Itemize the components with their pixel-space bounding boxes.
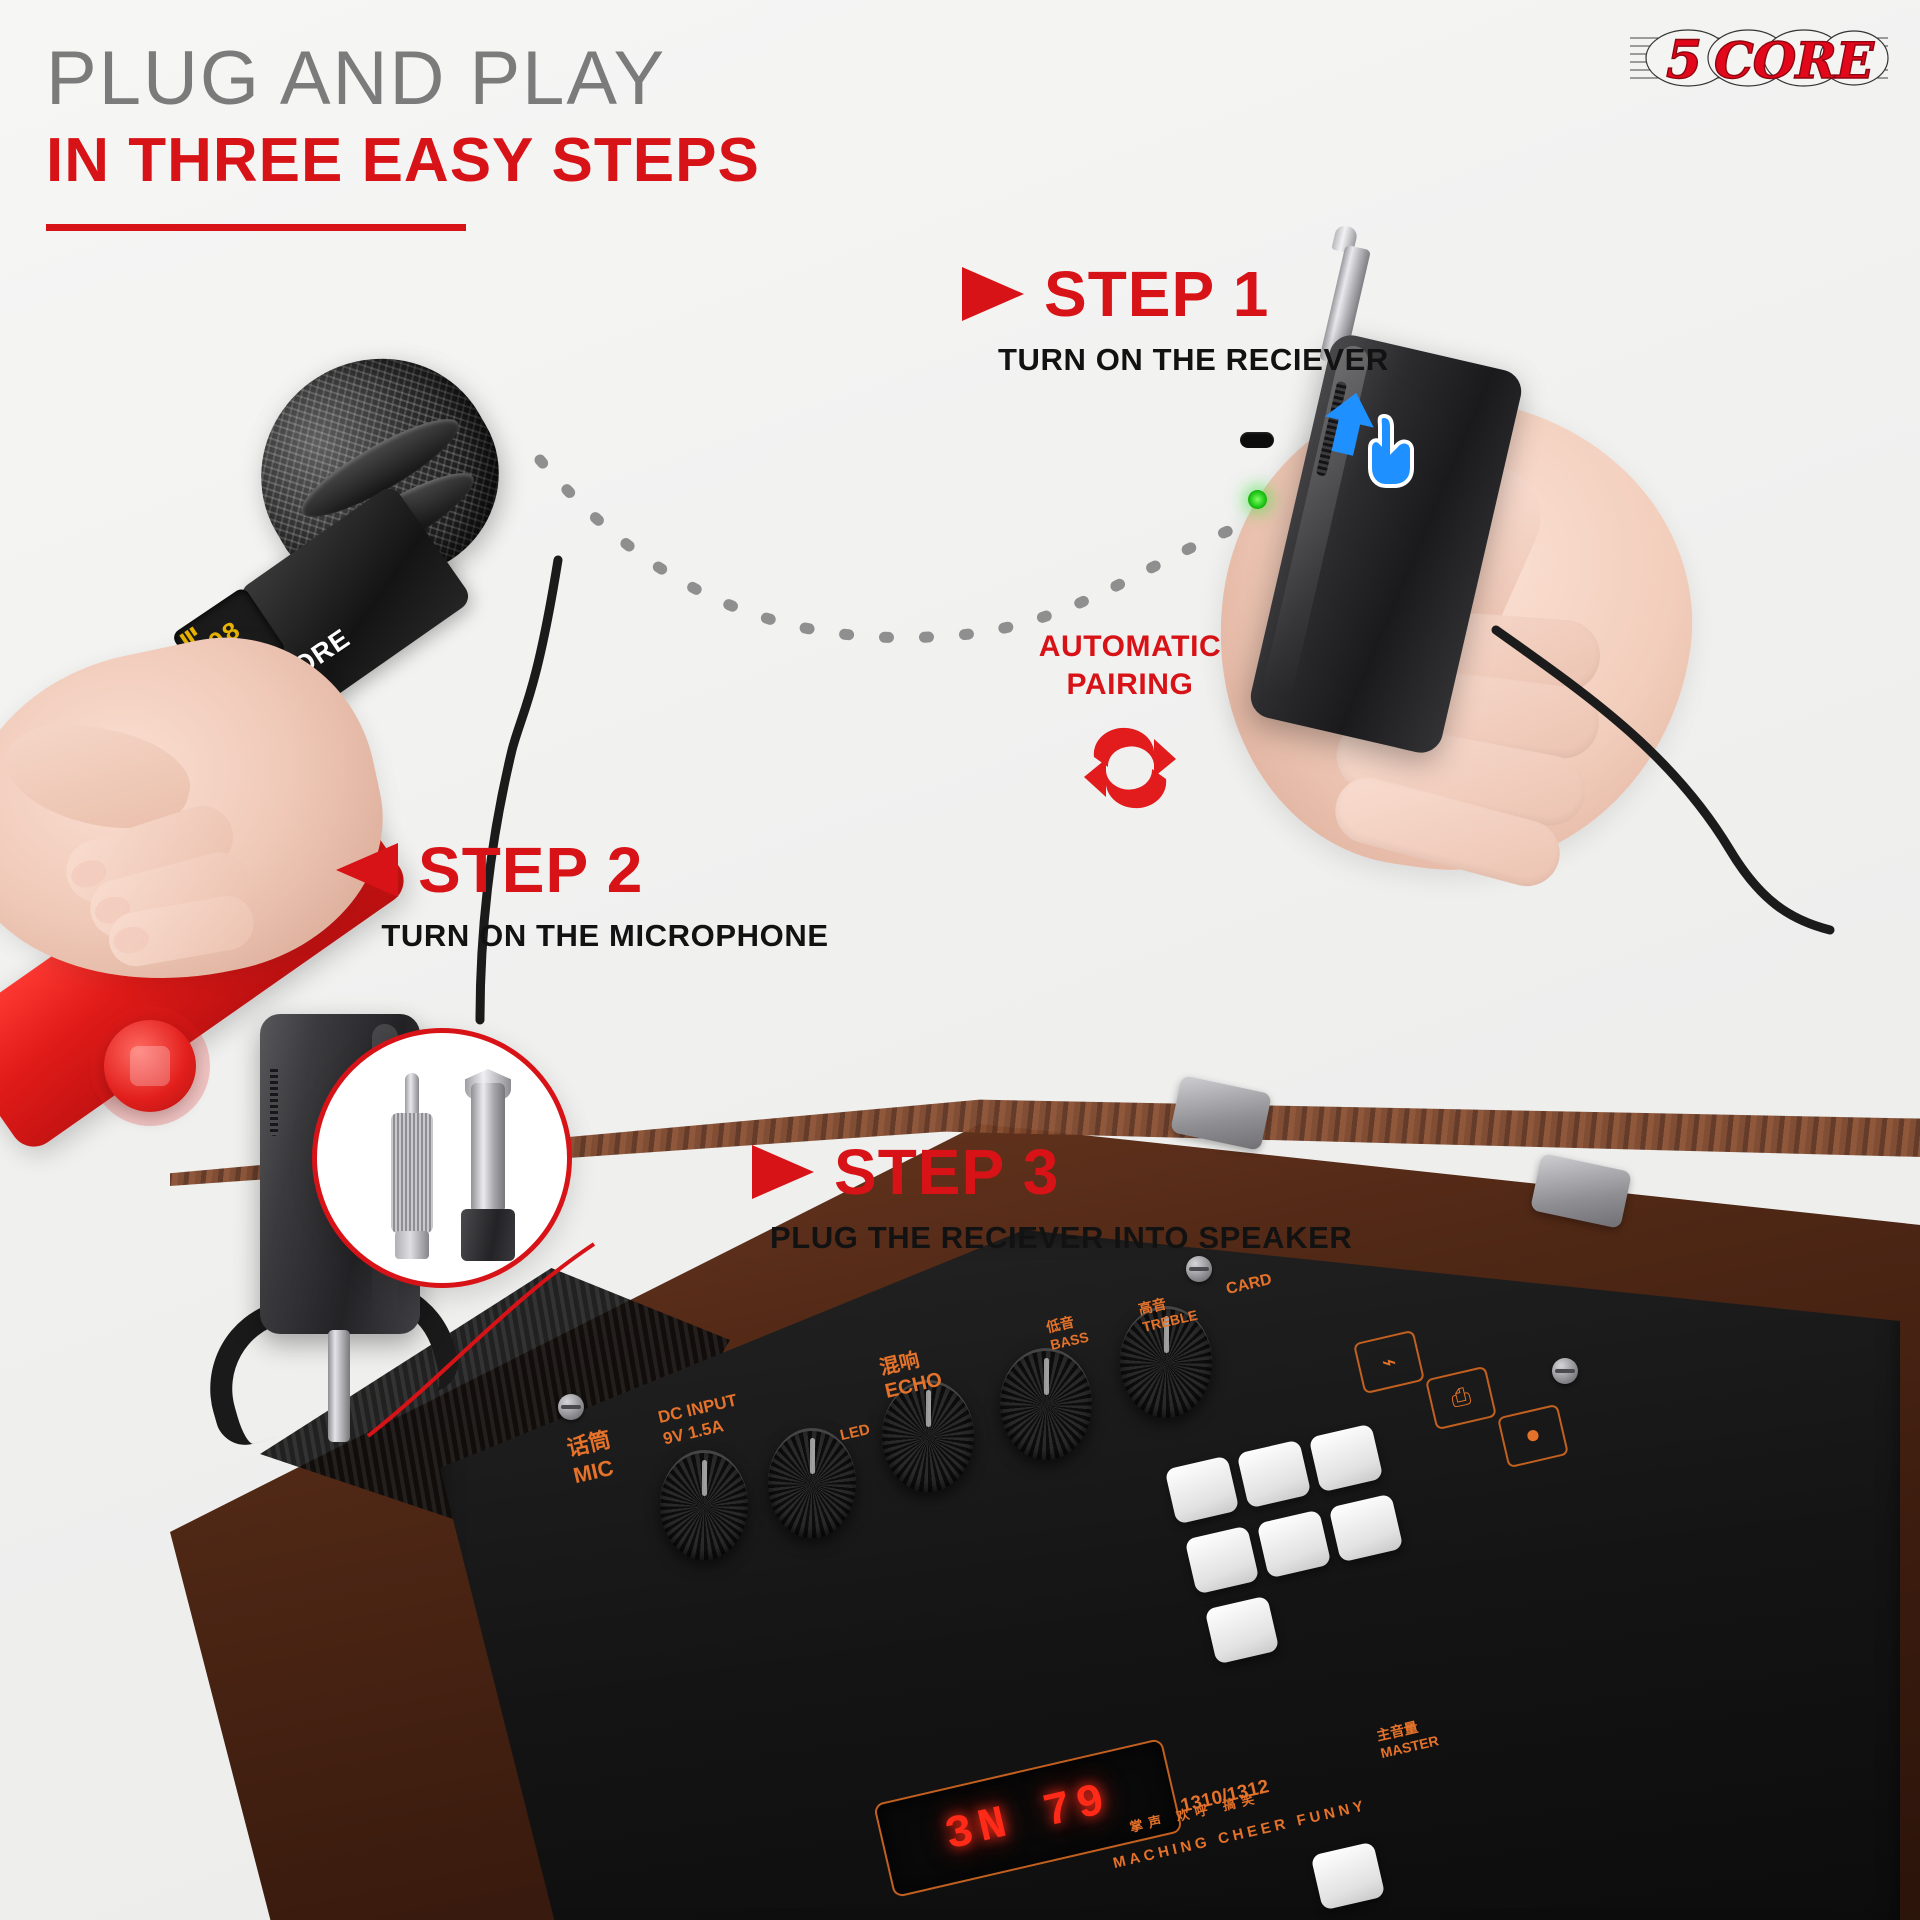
- panel-screw: [1552, 1358, 1578, 1384]
- step-3-subtitle: PLUG THE RECIEVER INTO SPEAKER: [770, 1220, 1352, 1256]
- knob-mic-volume[interactable]: [660, 1450, 748, 1560]
- step-1-title: STEP 1: [1044, 262, 1269, 326]
- receiver-cable: [1490, 620, 1830, 920]
- step-3-title: STEP 3: [834, 1140, 1059, 1204]
- plug-shaft: [471, 1083, 505, 1213]
- adapter-vent: [270, 1066, 278, 1136]
- usb-c-port-icon: [1240, 432, 1274, 448]
- svg-text:CORE: CORE: [1714, 31, 1875, 90]
- tap-cursor-icon: [1364, 410, 1434, 488]
- triangle-left-icon: [336, 843, 398, 897]
- infographic-canvas: PLUG AND PLAY IN THREE EASY STEPS 5 CORE: [0, 0, 1920, 1920]
- panel-screw: [1186, 1256, 1212, 1282]
- headline-primary: PLUG AND PLAY: [46, 42, 760, 116]
- knob-echo[interactable]: [768, 1428, 856, 1538]
- adapter-base: [395, 1231, 429, 1259]
- knob-treble[interactable]: [1000, 1348, 1092, 1460]
- headline-secondary: IN THREE EASY STEPS: [46, 124, 760, 197]
- step-3-block: STEP 3 PLUG THE RECIEVER INTO SPEAKER: [752, 1140, 1352, 1256]
- three-five-mm-adapter-icon: [391, 1073, 433, 1259]
- step-1-subtitle: TURN ON THE RECIEVER: [998, 342, 1389, 378]
- page-title: PLUG AND PLAY IN THREE EASY STEPS: [46, 42, 760, 231]
- svg-text:5: 5: [1666, 30, 1702, 91]
- adapter-knurled-barrel: [391, 1113, 433, 1233]
- adapter-tip: [405, 1073, 419, 1115]
- power-led-green: [1248, 490, 1267, 509]
- led-display-value: 3N 79: [940, 1774, 1115, 1862]
- five-core-logo: 5 CORE: [1626, 16, 1892, 100]
- plug-collar: [461, 1209, 515, 1261]
- step-2-block: STEP 2 TURN ON THE MICROPHONE: [336, 838, 870, 954]
- step-1-block: STEP 1 TURN ON THE RECIEVER: [962, 262, 1389, 378]
- quarter-inch-plug-icon: [457, 1069, 519, 1259]
- triangle-right-icon: [962, 267, 1024, 321]
- magnifier-circle: [312, 1028, 572, 1288]
- step-2-subtitle: TURN ON THE MICROPHONE: [340, 918, 870, 954]
- triangle-right-icon: [752, 1145, 814, 1199]
- headline-underline: [46, 224, 466, 231]
- step-2-title: STEP 2: [418, 838, 643, 902]
